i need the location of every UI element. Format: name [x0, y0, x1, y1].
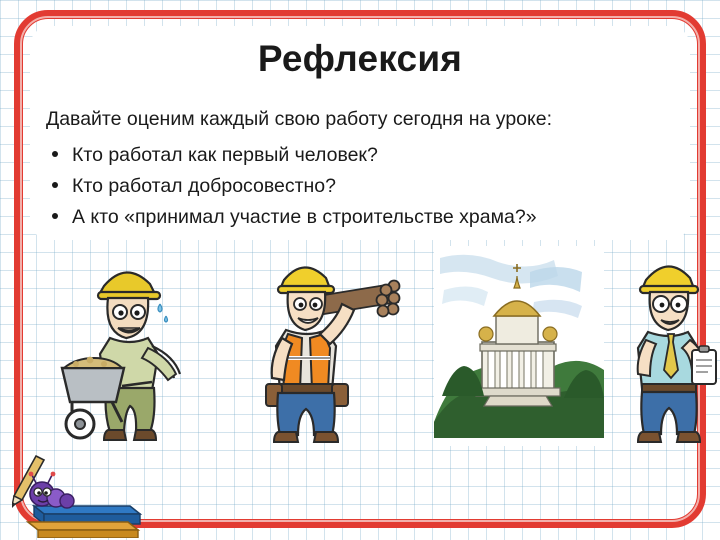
- bullet-dot-icon: [52, 151, 58, 157]
- bullet-dot-icon: [52, 213, 58, 219]
- engineer-with-clipboard: [616, 246, 720, 446]
- list-item: А кто «принимал участие в строительстве …: [46, 202, 696, 233]
- slide: Рефлексия Давайте оценим каждый свою раб…: [0, 0, 720, 540]
- list-item-label: А кто «принимал участие в строительстве …: [72, 206, 537, 228]
- worker-carrying-pipes: fotos: [236, 246, 406, 446]
- list-item-label: Кто работал как первый человек?: [72, 144, 378, 166]
- lead-text: Давайте оценим каждый свою работу сегодн…: [46, 108, 686, 131]
- list-item: Кто работал как первый человек?: [46, 140, 696, 171]
- list-item: Кто работал добросовестно?: [46, 171, 696, 202]
- image-strip: fotos: [56, 246, 668, 458]
- books-stack: [12, 452, 162, 538]
- bullet-dot-icon: [52, 182, 58, 188]
- temple-illustration: [434, 246, 604, 446]
- page-title: Рефлексия: [0, 38, 720, 80]
- list-item-label: Кто работал добросовестно?: [72, 175, 336, 197]
- bullet-list: Кто работал как первый человек? Кто рабо…: [46, 140, 696, 233]
- worker-with-wheelbarrow: [56, 246, 216, 446]
